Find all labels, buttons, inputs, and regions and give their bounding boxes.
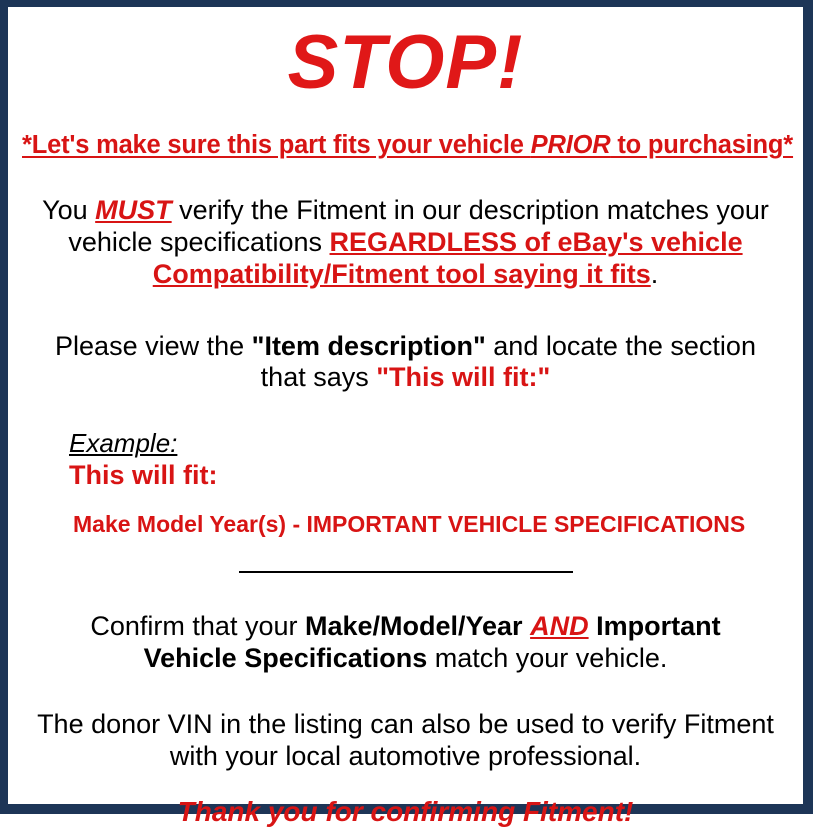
must-seg-1: You (42, 195, 95, 225)
example-label: Example: (69, 430, 789, 457)
donor-vin-paragraph: The donor VIN in the listing can also be… (22, 675, 789, 773)
confirm-paragraph: Confirm that your Make/Model/Year AND Im… (22, 581, 789, 675)
item-description-label: "Item description" (252, 331, 486, 361)
banner-prefix-text: *Let's make sure this part fits your veh… (22, 131, 531, 159)
confirm-seg-2 (523, 611, 531, 641)
confirm-seg-4: match your vehicle. (427, 643, 667, 673)
item-description-paragraph: Please view the "Item description" and l… (22, 291, 789, 395)
confirm-seg-3 (589, 611, 597, 641)
confirm-seg-1: Confirm that your (90, 611, 305, 641)
must-emphasis: MUST (95, 195, 172, 225)
view-seg-1: Please view the (55, 331, 252, 361)
must-seg-3: . (651, 259, 659, 289)
this-will-fit-quote: "This will fit:" (376, 362, 550, 392)
page-title: STOP! (22, 7, 789, 101)
banner-warning-line: *Let's make sure this part fits your veh… (22, 101, 789, 159)
fitment-notice-card: STOP! *Let's make sure this part fits yo… (0, 0, 813, 814)
thank-you-message: Thank you for confirming Fitment! (22, 773, 789, 827)
example-fit-heading: This will fit: (69, 458, 789, 490)
example-spec-line: Make Model Year(s) - IMPORTANT VEHICLE S… (69, 490, 789, 537)
must-verify-paragraph: You MUST verify the Fitment in our descr… (22, 159, 789, 291)
notice-content: STOP! *Let's make sure this part fits yo… (8, 7, 803, 804)
banner-emphasis-prior: PRIOR (531, 131, 611, 159)
make-model-year-label: Make/Model/Year (305, 611, 523, 641)
divider-wrapper (22, 537, 789, 581)
and-emphasis: AND (530, 611, 589, 641)
horizontal-divider (239, 571, 573, 573)
banner-suffix-text: to purchasing* (610, 131, 793, 159)
example-block: Example: This will fit: Make Model Year(… (22, 394, 789, 537)
